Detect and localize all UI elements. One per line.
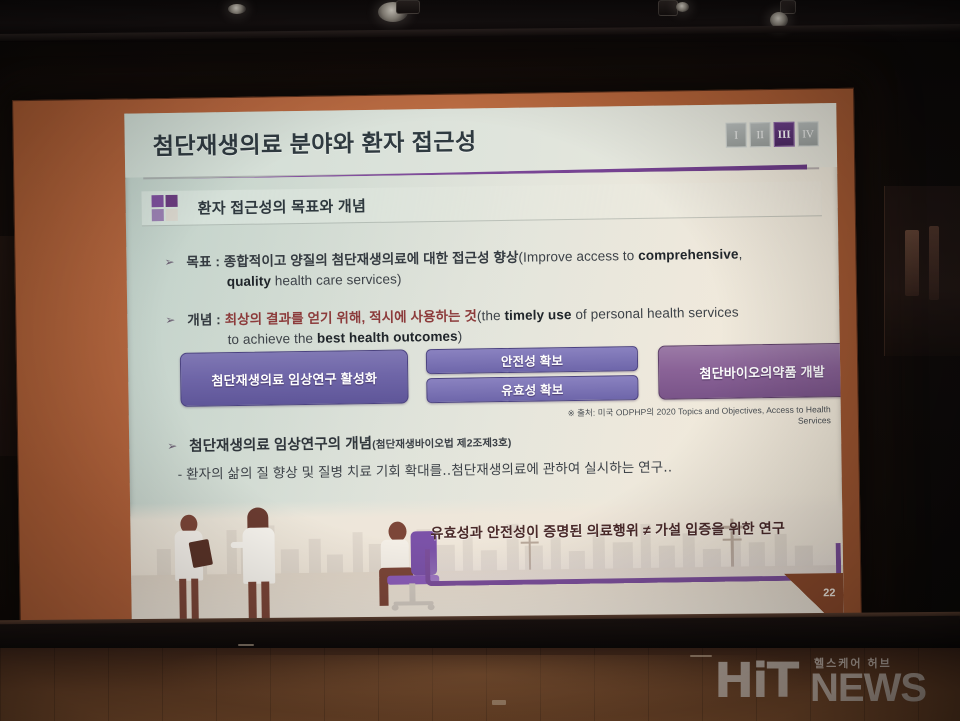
bullet-arrow-icon: ➢ xyxy=(165,313,178,327)
bullet-goal-kr: 목표 : 종합적이고 양질의 첨단재생의료에 대한 접근성 향상 xyxy=(186,250,518,270)
figure-coat xyxy=(242,527,275,583)
section-tabs[interactable]: I II III IV xyxy=(725,121,818,147)
chair-caster-right xyxy=(428,604,435,610)
antenna-tower-arm-3 xyxy=(723,539,742,541)
bullet-concept-en-bold: timely use xyxy=(504,307,571,323)
bullet-concept-kr-pre: 개념 : xyxy=(187,312,225,328)
bullet-goal-en-b: , xyxy=(738,246,742,261)
page-number: 22 xyxy=(823,587,835,599)
tab-section-2[interactable]: II xyxy=(749,122,770,147)
ceiling-fixture-1 xyxy=(396,0,420,14)
watermark-brand-hit: HiT xyxy=(714,653,797,709)
process-box-safety[interactable]: 안전성 확보 xyxy=(426,346,638,374)
bullet-arrow-icon: ➢ xyxy=(167,439,180,453)
figure-doctor xyxy=(236,507,284,620)
bullet-concept-line2-pre: to achieve the xyxy=(228,331,318,347)
bullet-concept-line2-bold: best health outcomes xyxy=(317,329,458,346)
figure-arm xyxy=(231,542,247,548)
antenna-tower-arm xyxy=(521,542,539,544)
building xyxy=(281,549,299,575)
bullet-goal-en-a: (Improve access to xyxy=(518,248,638,265)
tab-section-1[interactable]: I xyxy=(725,122,746,147)
right-wall-panel xyxy=(884,186,960,356)
figure-leg-right xyxy=(191,579,199,619)
chair-caster-left xyxy=(392,605,399,611)
tab-section-3-active[interactable]: III xyxy=(773,122,794,147)
bullet-concept-en-a: (the xyxy=(477,308,505,323)
four-square-icon xyxy=(151,195,177,221)
watermark-brand-news: NEWS xyxy=(810,666,926,711)
right-panel-shape-1 xyxy=(905,230,919,296)
process-box-row: 첨단재생의료 임상연구 활성화 안전성 확보 유효성 확보 첨단바이오의약품 개… xyxy=(180,344,805,405)
building xyxy=(226,530,237,576)
process-box-clinical-research[interactable]: 첨단재생의료 임상연구 활성화 xyxy=(180,349,409,406)
presentation-slide: 첨단재생의료 분야와 환자 접근성 I II III IV 환자 접근성의 목표… xyxy=(124,103,843,624)
ceiling-fixture-2 xyxy=(658,0,678,16)
page-title: 첨단재생의료 분야와 환자 접근성 xyxy=(152,122,476,161)
ceiling-light-3 xyxy=(676,2,689,12)
bullet-concept-en-b: of personal health services xyxy=(571,305,738,322)
right-panel-shape-2 xyxy=(929,226,939,300)
subtitle-band: 환자 접근성의 목표와 개념 xyxy=(141,181,821,226)
floor-speck-1 xyxy=(492,700,506,705)
bullet-goal-line2-bold: quality xyxy=(227,273,271,289)
bullet-goal-en-bold: comprehensive xyxy=(638,247,739,263)
projection-screen: 첨단재생의료 분야와 환자 접근성 I II III IV 환자 접근성의 목표… xyxy=(12,88,862,636)
bullet-concept-kr-red: 최상의 결과를 얻기 위해, 적시에 사용하는 것 xyxy=(225,308,478,327)
bullet-clinical-concept: ➢ 첨단재생의료 임상연구의 개념(첨단재생바이오법 제2조제3호) xyxy=(167,427,823,458)
figure-tablet xyxy=(189,539,214,568)
figure-leg-right xyxy=(261,582,270,620)
process-box-efficacy[interactable]: 유효성 확보 xyxy=(426,375,638,403)
hitnews-watermark: HiT 헬스케어 허브 NEWS xyxy=(714,637,946,713)
floor-light-pool xyxy=(150,655,810,721)
auditorium-photo: 첨단재생의료 분야와 환자 접근성 I II III IV 환자 접근성의 목표… xyxy=(0,0,960,721)
process-box-biopharma-development[interactable]: 첨단바이오의약품 개발 xyxy=(658,343,844,400)
subtitle-label: 환자 접근성의 목표와 개념 xyxy=(198,195,367,218)
ceiling-light-1 xyxy=(228,4,246,14)
concept-heading-line: 첨단재생의료 임상연구의 개념(첨단재생바이오법 제2조제3호) xyxy=(167,427,823,458)
figure-leg-left xyxy=(248,582,257,620)
building xyxy=(309,539,322,575)
building xyxy=(353,532,364,574)
figure-shirt xyxy=(381,539,409,569)
concept-detail: - 환자의 삶의 질 향상 및 질병 치료 기회 확대를‥첨단재생의료에 관하여… xyxy=(177,453,827,483)
figure-nurse-with-tablet xyxy=(166,514,212,619)
bullet-arrow-icon: ➢ xyxy=(164,255,177,269)
bullet-concept-line2-rest: ) xyxy=(458,329,463,344)
concept-heading-citation: (첨단재생바이오법 제2조제3호) xyxy=(372,437,511,451)
bullet-goal-line2-rest: health care services) xyxy=(271,272,402,289)
bullet-goal: ➢ 목표 : 종합적이고 양질의 첨단재생의료에 대한 접근성 향상(Impro… xyxy=(164,243,821,293)
tab-section-4[interactable]: IV xyxy=(797,121,818,146)
floor-speck-3 xyxy=(238,644,254,646)
bullet-concept: ➢ 개념 : 최상의 결과를 얻기 위해, 적시에 사용하는 것(the tim… xyxy=(165,301,822,351)
concept-heading: 첨단재생의료 임상연구의 개념 xyxy=(189,436,372,455)
floor-speck-2 xyxy=(690,655,712,657)
slide-illustration: 유효성과 안전성이 증명된 의료행위 ≠ 가설 입증을 위한 연구 xyxy=(130,493,844,624)
source-note: ※ 출처: 미국 ODPHP의 2020 Topics and Objectiv… xyxy=(549,403,831,429)
figure-leg-left xyxy=(179,579,187,619)
